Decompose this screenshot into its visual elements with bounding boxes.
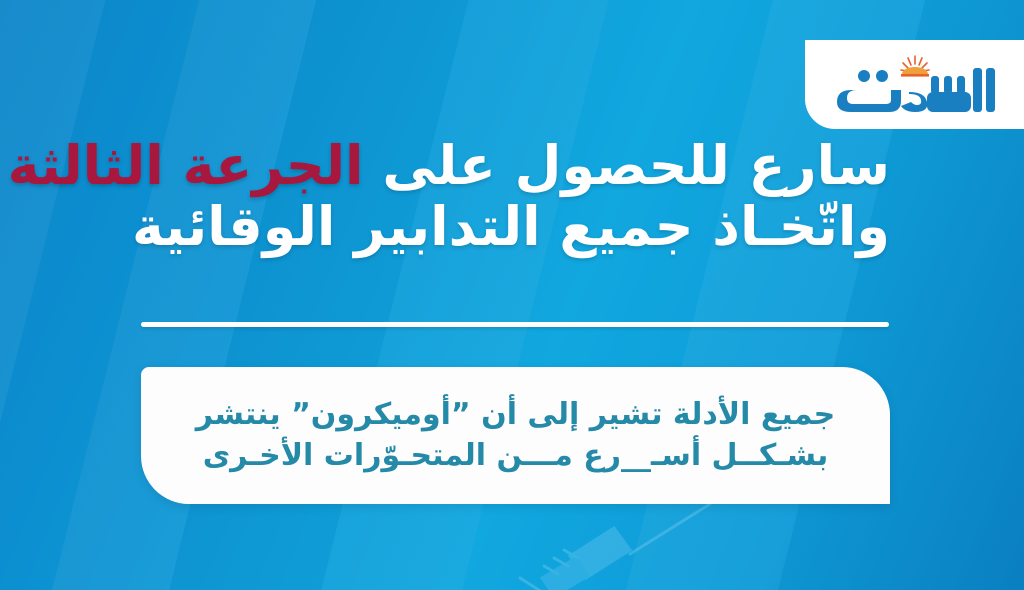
headline-line-1-prefix: سارع للحصول على <box>364 134 890 197</box>
syringe-icon <box>392 500 722 590</box>
body-card-line-1: جميع الأدلة تشير إلى أن ”أوميكرون” ينتشر <box>196 395 836 436</box>
headline-line-2: واتّخـاذ جميع التدابير الوقائية <box>120 199 890 254</box>
headline-accent-text: الجرعة الثالثة <box>8 134 364 197</box>
body-card: جميع الأدلة تشير إلى أن ”أوميكرون” ينتشر… <box>141 367 890 504</box>
al-sharq-logo-mark <box>831 52 999 118</box>
headline-line-1: سارع للحصول على الجرعة الثالثة <box>120 138 890 193</box>
al-sharq-logo-plate[interactable] <box>805 40 1024 129</box>
sunrise-fan-icon <box>901 56 929 77</box>
body-card-line-2: بشـكــل أسـ__رع مـــن المتحـوّرات الأخـر… <box>203 436 829 477</box>
headline-block: سارع للحصول على الجرعة الثالثة واتّخـاذ … <box>120 138 890 254</box>
divider-rule <box>141 322 889 327</box>
poster-canvas: سارع للحصول على الجرعة الثالثة واتّخـاذ … <box>0 0 1024 590</box>
